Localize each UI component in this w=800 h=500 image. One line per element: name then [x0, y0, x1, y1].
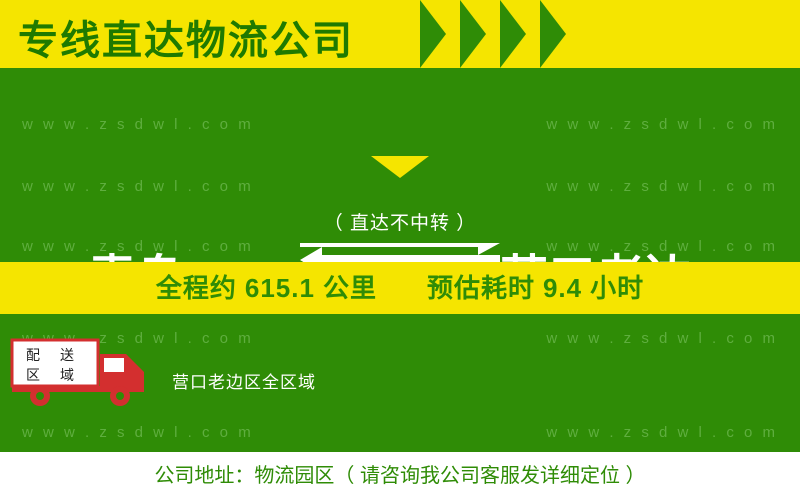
truck-text-4: 域 [60, 367, 74, 383]
watermark: w w w . z s d w l . c o m [22, 178, 254, 195]
stats-text: 全程约615.1公里预估耗时9.4小时 [0, 262, 800, 314]
chevron-right-icon [540, 0, 566, 68]
delivery-truck-icon: 配 送 区 域 [8, 332, 168, 412]
watermark: w w w . z s d w l . c o m [546, 116, 778, 133]
chevron-down-icon [371, 156, 429, 178]
watermark: w w w . z s d w l . c o m [22, 424, 254, 441]
chevron-right-icon [500, 0, 526, 68]
truck-text-2: 送 [60, 347, 74, 363]
page-title: 专线直达物流公司 [18, 8, 354, 66]
route-area: w w w . z s d w l . c o m w w w . z s d … [0, 68, 800, 258]
chevron-right-icon [420, 0, 446, 68]
watermark: w w w . z s d w l . c o m [546, 330, 778, 347]
duration-label: 预估耗时 [427, 273, 535, 303]
direct-note: （ 直达不中转 ） [280, 208, 520, 235]
chevron-right-icon [460, 0, 486, 68]
watermark: w w w . z s d w l . c o m [546, 424, 778, 441]
duration-value: 9.4 [543, 273, 582, 303]
footer-address: 公司地址：物流园区（ 请咨询我公司客服发详细定位 ） [0, 452, 800, 500]
stats-band: 全程约615.1公里预估耗时9.4小时 [0, 262, 800, 314]
watermark: w w w . z s d w l . c o m [22, 116, 254, 133]
delivery-area-label: 营口老边区全区域 [172, 368, 316, 393]
distance-label: 全程约 [156, 273, 237, 303]
watermark: w w w . z s d w l . c o m [546, 178, 778, 195]
distance-value: 615.1 [245, 273, 315, 303]
duration-unit: 小时 [590, 273, 644, 303]
truck-text-3: 区 [26, 367, 40, 383]
footer-band: 公司地址：物流园区（ 请咨询我公司客服发详细定位 ） [0, 452, 800, 500]
truck-text-1: 配 [26, 347, 40, 363]
top-banner: 专线直达物流公司 [0, 0, 800, 68]
poster-root: 专线直达物流公司 w w w . z s d w l . c o m w w w… [0, 0, 800, 500]
distance-unit: 公里 [323, 273, 377, 303]
